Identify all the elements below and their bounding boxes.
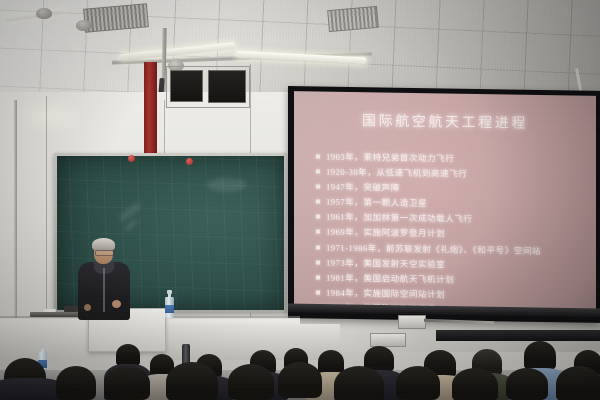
ceiling-vent — [327, 6, 379, 32]
list-item-label: 1903年，莱特兄弟首次动力飞行 — [326, 150, 454, 164]
wall-light-glow — [14, 96, 84, 136]
bullet-square-icon — [316, 275, 320, 279]
chalk-smudge — [207, 178, 247, 192]
bullet-square-icon — [316, 215, 320, 219]
list-item-label: 1969年，实施阿波罗登月计划 — [326, 226, 445, 240]
list-item-label: 1961年，加加林第一次成功载人飞行 — [326, 211, 473, 225]
list-item: 1920-30年，从低速飞机到高速飞行 — [316, 165, 586, 182]
magnet-icon — [186, 158, 193, 165]
slide-bullet-list: 1903年，莱特兄弟首次动力飞行 1920-30年，从低速飞机到高速飞行 194… — [316, 149, 586, 310]
ceiling-speaker-icon — [36, 8, 52, 19]
lecturer-hand — [84, 304, 91, 311]
water-bottle — [165, 290, 174, 318]
list-item-label: 1920-30年，从低速飞机到高速飞行 — [326, 165, 467, 179]
projection-screen: 国际航空航天工程进程 1903年，莱特兄弟首次动力飞行 1920-30年，从低速… — [294, 91, 596, 311]
lecturer — [76, 238, 134, 320]
audience-head-foreground — [278, 362, 322, 398]
list-item: 1903年，莱特兄弟首次动力飞行 — [316, 149, 586, 166]
projection-screen-frame: 国际航空航天工程进程 1903年，莱特兄弟首次动力飞行 1920-30年，从低速… — [288, 86, 600, 323]
audience-head-foreground — [506, 368, 548, 400]
audience-head — [116, 344, 140, 366]
magnet-icon — [128, 155, 135, 162]
list-item-label: 1971-1986年，前苏联发射《礼炮》、《和平号》空间站 — [326, 241, 541, 256]
audience-head-foreground — [166, 362, 218, 400]
bullet-square-icon — [316, 230, 320, 234]
list-item: 1971-1986年，前苏联发射《礼炮》、《和平号》空间站 — [316, 241, 586, 258]
bullet-square-icon — [316, 184, 320, 188]
bullet-square-icon — [316, 291, 320, 295]
lecturer-hand — [112, 300, 121, 308]
audience-head-foreground — [228, 364, 274, 400]
audience-head-foreground — [396, 366, 440, 400]
list-item-label: 1984年，实施国际空间站计划 — [326, 287, 445, 301]
list-item: 1981年，美国启动航天飞机计划 — [316, 271, 586, 288]
bullet-square-icon — [316, 260, 320, 264]
list-item: 1973年，美国发射天空实验室 — [316, 256, 586, 273]
audience-head-foreground — [452, 368, 498, 400]
bullet-square-icon — [316, 200, 320, 204]
screen-mount-box — [398, 315, 426, 329]
audience-head — [318, 350, 344, 374]
dark-window-panel — [208, 70, 246, 103]
lecture-hall-photo: 国际航空航天工程进程 1903年，莱特兄弟首次动力飞行 1920-30年，从低速… — [0, 0, 600, 400]
wall-panel-seam — [46, 96, 47, 320]
audience-head-foreground — [104, 366, 150, 400]
bottle-label — [165, 305, 174, 313]
bullet-square-icon — [316, 169, 320, 173]
ceiling-speaker-icon — [76, 20, 92, 31]
lecturer-zipper — [103, 268, 105, 312]
list-item: 1984年，实施国际空间站计划 — [316, 286, 586, 303]
audience-head-foreground — [334, 366, 384, 400]
list-item-label: 1957年，第一颗人造卫星 — [326, 196, 427, 210]
dark-window-panel — [170, 70, 203, 102]
audience-head-foreground — [556, 366, 600, 400]
audience — [0, 330, 600, 400]
list-item: 1947年，突破声障 — [316, 180, 586, 197]
list-item: 1957年，第一颗人造卫星 — [316, 195, 586, 212]
list-item-label: 1947年，突破声障 — [326, 180, 400, 193]
list-item: 1961年，加加林第一次成功载人飞行 — [316, 210, 586, 227]
chalk-stick — [44, 309, 56, 312]
wall-pipe — [14, 100, 17, 322]
glasses-icon — [95, 250, 114, 256]
audience-head-foreground — [56, 366, 96, 400]
list-item-label: 1981年，美国启动航天飞机计划 — [326, 272, 454, 286]
bullet-square-icon — [316, 154, 320, 158]
slide-title: 国际航空航天工程进程 — [294, 109, 596, 134]
list-item: 1969年，实施阿波罗登月计划 — [316, 225, 586, 242]
bullet-square-icon — [316, 245, 320, 249]
list-item-label: 1973年，美国发射天空实验室 — [326, 256, 445, 270]
audience-head — [524, 341, 556, 370]
bottle-cap — [167, 290, 172, 294]
